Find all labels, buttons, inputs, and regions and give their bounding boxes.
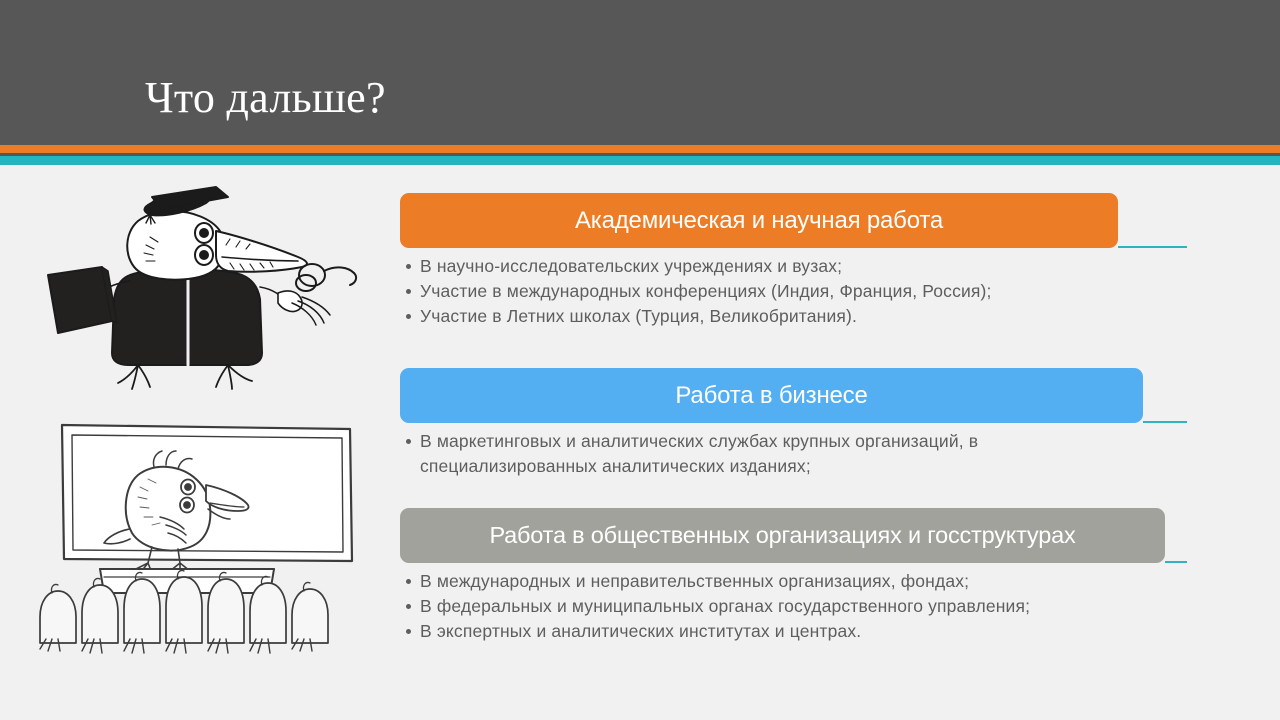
bullet-list-academic: В научно-исследовательских учреждениях и…	[400, 254, 1118, 329]
content-block-business: Работа в бизнесе В маркетинговых и анали…	[400, 368, 1143, 479]
list-item: Участие в Летних школах (Турция, Великоб…	[400, 304, 1118, 329]
list-item: Участие в международных конференциях (Ин…	[400, 279, 1118, 304]
header-underline-public	[1165, 561, 1187, 563]
block-header-public[interactable]: Работа в общественных организациях и гос…	[400, 508, 1165, 563]
lecture-scene-illustration	[20, 413, 390, 675]
divider-teal	[0, 156, 1280, 165]
list-item: В международных и неправительственных ор…	[400, 569, 1165, 594]
bullet-list-public: В международных и неправительственных ор…	[400, 569, 1165, 644]
block-header-business[interactable]: Работа в бизнесе	[400, 368, 1143, 423]
divider-orange	[0, 145, 1280, 153]
list-item: В федеральных и муниципальных органах го…	[400, 594, 1165, 619]
professor-bird-illustration	[20, 175, 390, 405]
page-title: Что дальше?	[145, 72, 386, 124]
header-underline-academic	[1118, 246, 1187, 248]
block-header-title: Работа в общественных организациях и гос…	[489, 522, 1075, 549]
list-item: В экспертных и аналитических институтах …	[400, 619, 1165, 644]
content-block-academic: Академическая и научная работа В научно-…	[400, 193, 1118, 329]
list-item: В научно-исследовательских учреждениях и…	[400, 254, 1118, 279]
block-header-title: Академическая и научная работа	[575, 207, 943, 235]
header-underline-business	[1143, 421, 1187, 423]
block-header-academic[interactable]: Академическая и научная работа	[400, 193, 1118, 248]
bullet-list-business: В маркетинговых и аналитических службах …	[400, 429, 1143, 479]
block-header-title: Работа в бизнесе	[675, 382, 867, 410]
content-block-public: Работа в общественных организациях и гос…	[400, 508, 1165, 644]
list-item: В маркетинговых и аналитических службах …	[400, 429, 1143, 479]
illustration-column	[20, 175, 390, 685]
